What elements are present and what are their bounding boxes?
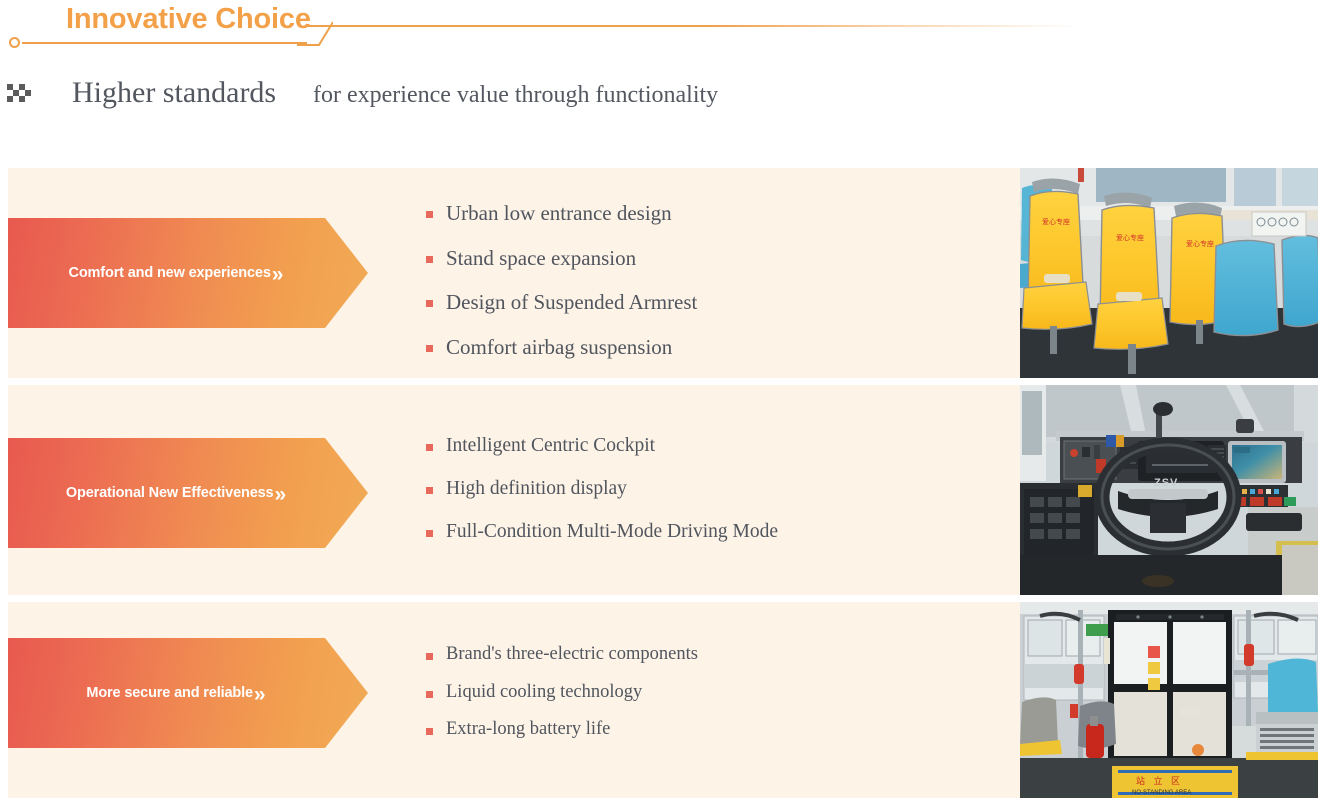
bullet-square-icon	[426, 728, 433, 735]
list-item: Design of Suspended Armrest	[426, 291, 697, 315]
list-item: Intelligent Centric Cockpit	[426, 435, 778, 457]
list-item: Full-Condition Multi-Mode Driving Mode	[426, 521, 778, 543]
bullet-text: Urban low entrance design	[446, 202, 672, 226]
header-rule-lower	[22, 42, 307, 44]
bullet-square-icon	[426, 691, 433, 698]
bullet-list: Intelligent Centric Cockpit High definit…	[426, 435, 778, 563]
list-item: Comfort airbag suspension	[426, 336, 697, 360]
bullet-text: Comfort airbag suspension	[446, 336, 672, 360]
row-banner-label: Comfort and new experiences	[69, 265, 271, 281]
feature-row-panel: More secure and reliable » Brand's three…	[8, 602, 1318, 798]
slide-root: Innovative Choice Higher standards for e…	[0, 0, 1330, 801]
bus-door-standing-area-photo: 站 立 区 NO-STANDING AREA	[1020, 602, 1318, 798]
row-banner-arrow[interactable]: Operational New Effectiveness »	[8, 438, 368, 548]
row-banner-inner: Operational New Effectiveness »	[66, 483, 286, 504]
bullet-text: Liquid cooling technology	[446, 682, 642, 703]
bullet-text: Stand space expansion	[446, 247, 636, 271]
bullet-text: Extra-long battery life	[446, 719, 610, 740]
svg-text:NO-STANDING AREA: NO-STANDING AREA	[1132, 790, 1191, 796]
bullet-text: Brand's three-electric components	[446, 644, 698, 665]
bullet-text: High definition display	[446, 478, 627, 500]
bus-interior-seats-photo: 爱心专座 爱心专座 爱心专座	[1020, 168, 1318, 378]
bullet-list: Brand's three-electric components Liquid…	[426, 644, 698, 757]
row-banner-arrow[interactable]: Comfort and new experiences »	[8, 218, 368, 328]
svg-text:爱心专座: 爱心专座	[1186, 239, 1214, 248]
row-banner-label: More secure and reliable	[86, 685, 252, 701]
bullet-square-icon	[426, 211, 433, 218]
svg-text:爱心专座: 爱心专座	[1042, 217, 1070, 226]
list-item: Urban low entrance design	[426, 202, 697, 226]
bullet-text: Full-Condition Multi-Mode Driving Mode	[446, 521, 778, 543]
list-item: Stand space expansion	[426, 247, 697, 271]
list-item: High definition display	[426, 478, 778, 500]
double-chevron-icon	[7, 83, 41, 109]
circle-endpoint-icon	[9, 37, 20, 48]
list-item: Brand's three-electric components	[426, 644, 698, 665]
bullet-square-icon	[426, 653, 433, 660]
list-item: Liquid cooling technology	[426, 682, 698, 703]
subtitle-rest: for experience value through functionali…	[313, 82, 718, 109]
row-banner-arrow[interactable]: More secure and reliable »	[8, 638, 368, 748]
feature-row-panel: Comfort and new experiences » Urban low …	[8, 168, 1318, 378]
banner-chevron-icon: »	[254, 684, 266, 705]
subtitle-strong: Higher standards	[72, 76, 276, 110]
svg-text:站 立 区: 站 立 区	[1136, 775, 1183, 786]
header-rule-upper	[305, 25, 1080, 27]
bullet-square-icon	[426, 345, 433, 352]
banner-chevron-icon: »	[274, 484, 286, 505]
bullet-square-icon	[426, 487, 433, 494]
bullet-square-icon	[426, 256, 433, 263]
feature-row-panel: Operational New Effectiveness » Intellig…	[8, 385, 1318, 595]
row-banner-inner: Comfort and new experiences »	[69, 263, 284, 284]
svg-text:ZSV: ZSV	[1154, 477, 1178, 489]
slide-header: Innovative Choice	[0, 0, 1330, 62]
subtitle-row: Higher standards for experience value th…	[0, 78, 1330, 122]
banner-chevron-icon: »	[272, 264, 284, 285]
bullet-text: Design of Suspended Armrest	[446, 291, 697, 315]
driver-cockpit-photo: ZSV	[1020, 385, 1318, 595]
row-banner-inner: More secure and reliable »	[86, 683, 265, 704]
bullet-square-icon	[426, 444, 433, 451]
list-item: Extra-long battery life	[426, 719, 698, 740]
bullet-square-icon	[426, 300, 433, 307]
bullet-square-icon	[426, 530, 433, 537]
bullet-list: Urban low entrance design Stand space ex…	[426, 202, 697, 378]
page-title: Innovative Choice	[66, 3, 311, 36]
bullet-text: Intelligent Centric Cockpit	[446, 435, 655, 457]
svg-text:爱心专座: 爱心专座	[1116, 233, 1144, 242]
row-banner-label: Operational New Effectiveness	[66, 485, 274, 501]
